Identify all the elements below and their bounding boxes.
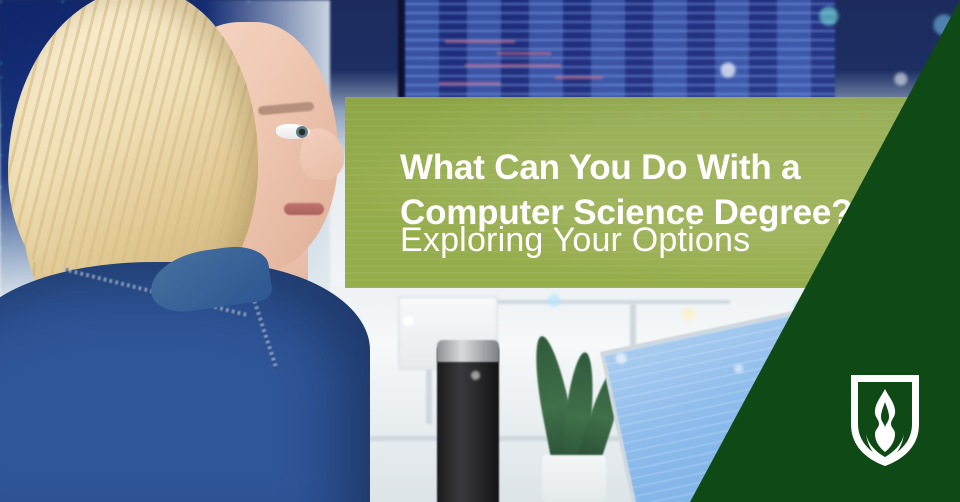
hero-banner: What Can You Do With a Computer Science … (0, 0, 960, 502)
woman-profile (0, 0, 400, 502)
thermos-bottle (437, 345, 499, 502)
headline-line-1: What Can You Do With a (400, 148, 800, 187)
thermos-cap (437, 340, 499, 362)
lips (284, 203, 324, 215)
eye (276, 124, 310, 139)
shield-flame-logo-icon (848, 372, 922, 468)
plant-pot (542, 455, 606, 502)
page-subtitle: Exploring Your Options (400, 219, 750, 261)
